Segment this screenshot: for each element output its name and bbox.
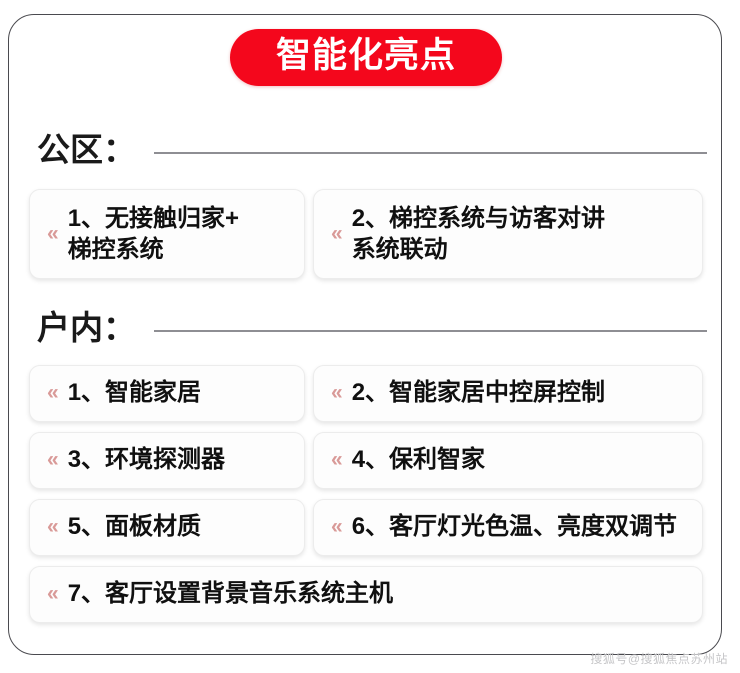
card-public-1-text: 1、无接触归家+ 梯控系统 [68,203,239,265]
card-indoor-6[interactable]: « 6、客厅灯光色温、亮度双调节 [313,499,703,556]
card-indoor-5-text: 5、面板材质 [68,512,201,543]
card-indoor-2-text: 2、智能家居中控屏控制 [352,378,605,409]
card-indoor-2[interactable]: « 2、智能家居中控屏控制 [313,365,703,422]
card-public-1-line2: 梯控系统 [68,236,164,263]
card-indoor-6-text: 6、客厅灯光色温、亮度双调节 [352,512,677,543]
chevron-double-left-icon: « [331,516,343,537]
card-indoor-4-text: 4、保利智家 [352,445,485,476]
card-indoor-1-text: 1、智能家居 [68,378,201,409]
section-title-public-area: 公区： [37,133,136,166]
card-public-2[interactable]: « 2、梯控系统与访客对讲 系统联动 [313,189,703,279]
card-public-2-line2: 系统联动 [352,236,448,263]
card-indoor-4[interactable]: « 4、保利智家 [313,432,703,489]
page-title-badge: 智能化亮点 [230,29,502,86]
card-public-2-line1: 2、梯控系统与访客对讲 [352,205,605,232]
section-header-public-area: 公区： [37,133,707,166]
chevron-double-left-icon: « [47,449,59,470]
card-indoor-7[interactable]: « 7、客厅设置背景音乐系统主机 [29,566,703,623]
card-indoor-3-text: 3、环境探测器 [68,445,225,476]
watermark-label: 搜狐号@搜狐焦点苏州站 [590,650,728,667]
card-public-1[interactable]: « 1、无接触归家+ 梯控系统 [29,189,305,279]
chevron-double-left-icon: « [47,583,59,604]
chevron-double-left-icon: « [47,382,59,403]
section-rule-indoor [154,330,707,332]
page-frame: 智能化亮点 公区： « 1、无接触归家+ 梯控系统 « 2、梯控系统与访客对讲 … [8,14,722,655]
chevron-double-left-icon: « [47,223,59,244]
card-indoor-1[interactable]: « 1、智能家居 [29,365,305,422]
card-indoor-3[interactable]: « 3、环境探测器 [29,432,305,489]
section-header-indoor: 户内： [37,311,707,344]
card-public-1-line1: 1、无接触归家+ [68,205,239,232]
section-rule-public-area [154,152,707,154]
chevron-double-left-icon: « [331,449,343,470]
section-title-indoor: 户内： [37,311,136,344]
title-row: 智能化亮点 [9,29,723,86]
card-indoor-7-text: 7、客厅设置背景音乐系统主机 [68,579,393,610]
chevron-double-left-icon: « [331,223,343,244]
chevron-double-left-icon: « [331,382,343,403]
chevron-double-left-icon: « [47,516,59,537]
card-public-2-text: 2、梯控系统与访客对讲 系统联动 [352,203,605,265]
card-indoor-5[interactable]: « 5、面板材质 [29,499,305,556]
